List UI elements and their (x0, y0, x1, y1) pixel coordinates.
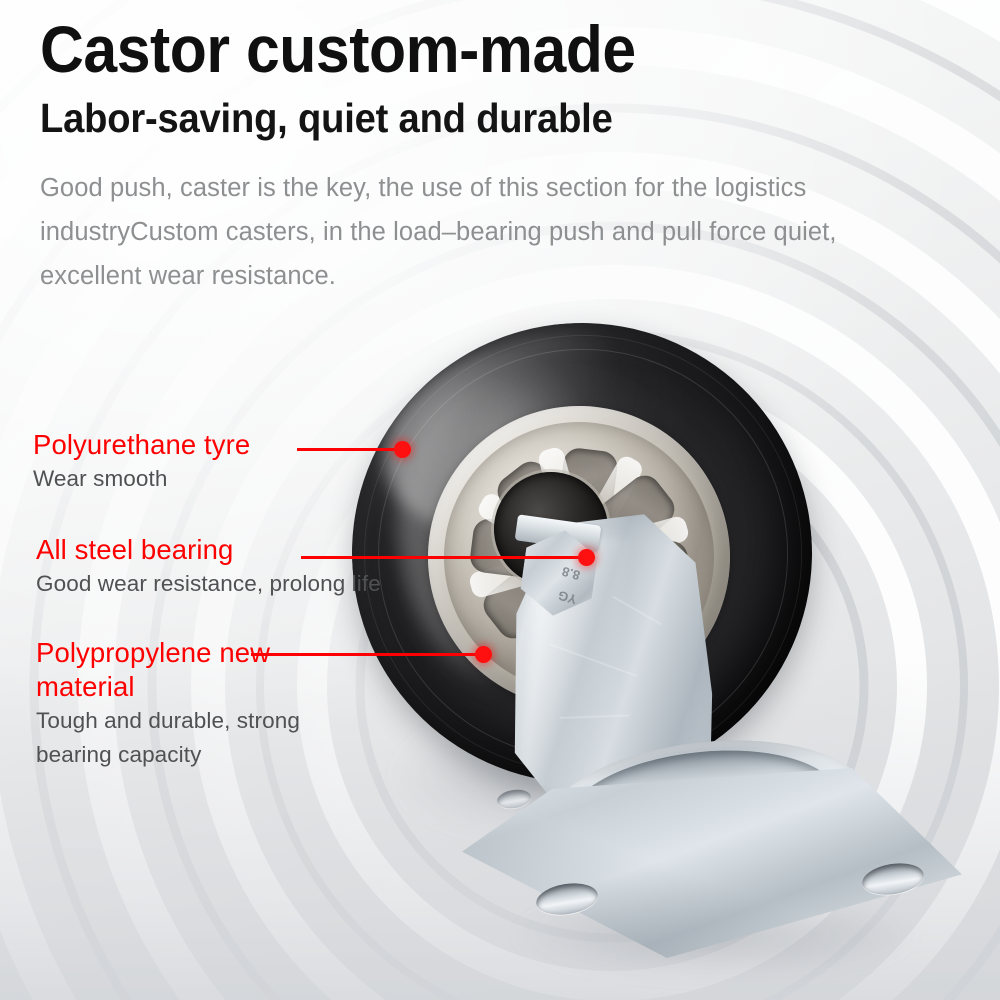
callout-title: All steel bearing (36, 533, 381, 567)
callout-polyurethane-tyre: Polyurethane tyre Wear smooth (33, 428, 250, 496)
leader-dot-tyre (394, 441, 411, 458)
callout-description: Tough and durable, strong bearing capaci… (36, 704, 381, 772)
leader-dot-bearing (578, 549, 595, 566)
callout-polypropylene-new-material: Polypropylene new material Tough and dur… (36, 636, 381, 772)
page-title: Castor custom-made (40, 16, 896, 83)
page-subtitle: Labor-saving, quiet and durable (40, 97, 905, 140)
leader-line-tyre (297, 448, 402, 451)
callout-description: Good wear resistance, prolong life (36, 567, 381, 601)
leader-line-hub (251, 653, 483, 656)
callout-title: Polypropylene new material (36, 636, 276, 704)
leader-dot-hub (475, 646, 492, 663)
header-block: Castor custom-made Labor-saving, quiet a… (40, 16, 970, 298)
page-description: Good push, caster is the key, the use of… (40, 166, 945, 298)
product-infographic-page: Castor custom-made Labor-saving, quiet a… (0, 0, 1000, 1000)
leader-line-bearing (301, 556, 586, 559)
callout-description: Wear smooth (33, 462, 250, 496)
callout-all-steel-bearing: All steel bearing Good wear resistance, … (36, 533, 381, 601)
callout-title: Polyurethane tyre (33, 428, 250, 462)
